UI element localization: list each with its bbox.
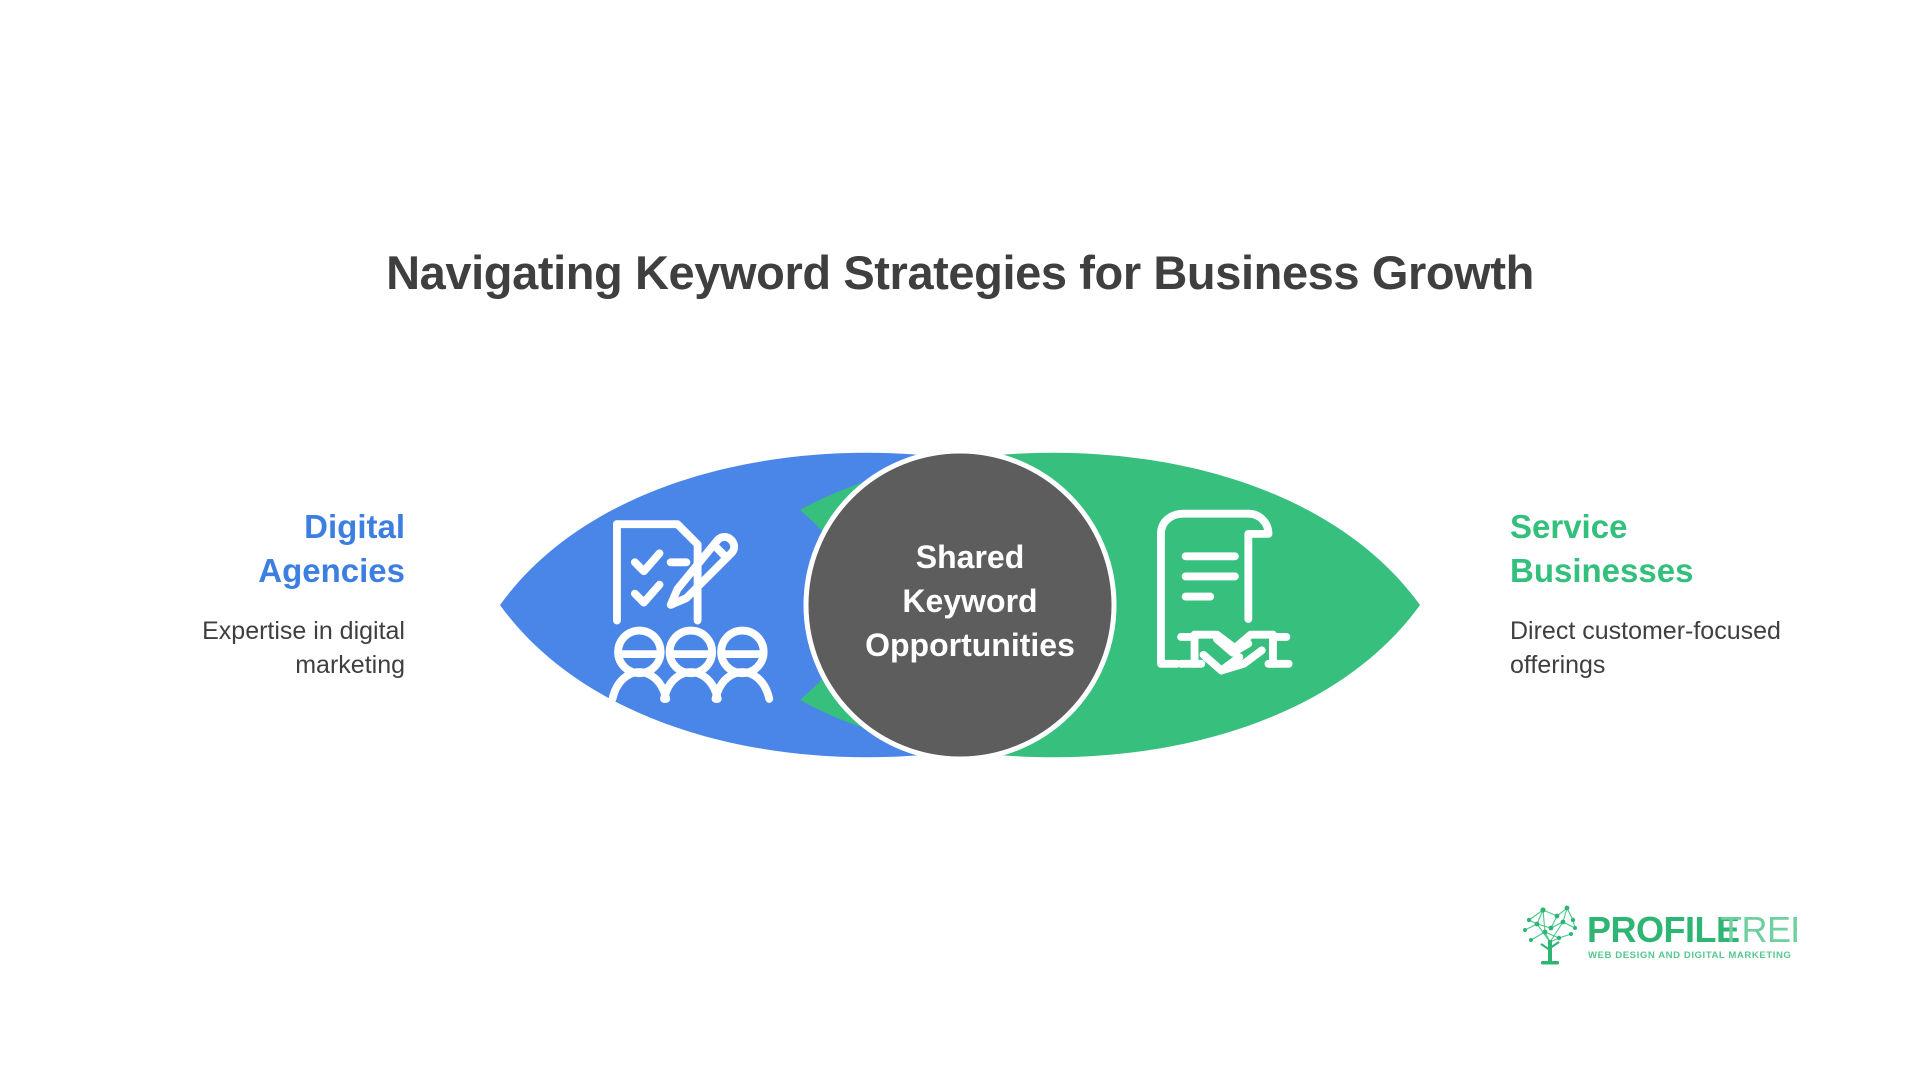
left-heading-line-2: Agencies [105, 549, 405, 593]
page-title: Navigating Keyword Strategies for Busine… [0, 245, 1920, 300]
profiletree-logo: PROFILE TREE WEB DESIGN AND DIGITAL MARK… [1517, 898, 1797, 970]
left-category-block: Digital Agencies Expertise in digital ma… [105, 505, 405, 682]
right-category-block: Service Businesses Direct customer-focus… [1510, 505, 1810, 682]
right-heading-line-1: Service [1510, 505, 1810, 549]
right-category-description: Direct customer-focused offerings [1510, 615, 1810, 682]
venn-diagram [480, 395, 1440, 815]
left-heading-line-1: Digital [105, 505, 405, 549]
tree-network-icon [1523, 906, 1577, 965]
logo-tagline: WEB DESIGN AND DIGITAL MARKETING [1588, 950, 1791, 961]
logo-name-light: TREE [1720, 909, 1797, 950]
infographic-canvas: Navigating Keyword Strategies for Busine… [0, 0, 1920, 1080]
logo-name-bold: PROFILE [1587, 909, 1740, 950]
center-circle [806, 451, 1114, 759]
left-category-description: Expertise in digital marketing [105, 615, 405, 682]
left-category-heading: Digital Agencies [105, 505, 405, 593]
right-heading-line-2: Businesses [1510, 549, 1810, 593]
right-category-heading: Service Businesses [1510, 505, 1810, 593]
